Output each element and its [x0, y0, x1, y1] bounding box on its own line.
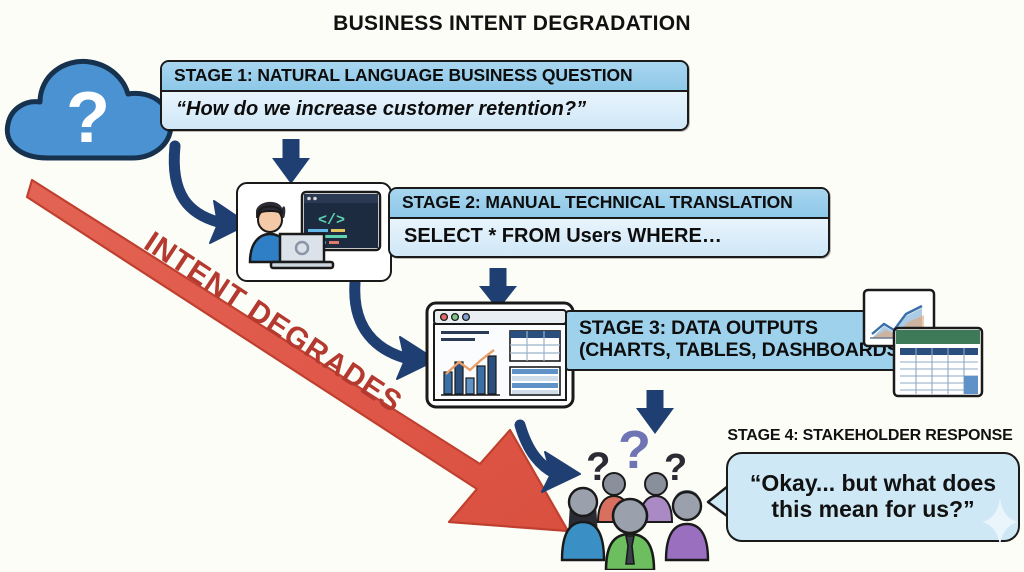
- stage-1-body: “How do we increase customer retention?”: [162, 92, 687, 129]
- stage-2-card[interactable]: STAGE 2: MANUAL TECHNICAL TRANSLATION SE…: [388, 187, 830, 258]
- stage-1-header: STAGE 1: NATURAL LANGUAGE BUSINESS QUEST…: [162, 62, 687, 92]
- stage-4-label: STAGE 4: STAKEHOLDER RESPONSE: [716, 427, 1024, 445]
- spreadsheet-icon: [892, 326, 1004, 404]
- stakeholder-speech-bubble[interactable]: “Okay... but what does this mean for us?…: [726, 452, 1020, 542]
- stage-3-line1: STAGE 3: DATA OUTPUTS: [579, 318, 897, 340]
- svg-text:?: ?: [66, 78, 110, 158]
- sparkle-icon: [980, 496, 1020, 548]
- question-cloud-icon: ?: [0, 46, 176, 166]
- svg-text:?: ?: [618, 420, 651, 480]
- developer-laptop-icon: </>: [236, 182, 392, 282]
- svg-text:</>: </>: [318, 212, 345, 229]
- bubble-line1: “Okay... but what does: [750, 471, 996, 497]
- bubble-line2: this mean for us?”: [750, 497, 996, 523]
- stage-3-card[interactable]: STAGE 3: DATA OUTPUTS (CHARTS, TABLES, D…: [565, 310, 909, 371]
- stage-2-body: SELECT * FROM Users WHERE…: [390, 219, 828, 256]
- stage-1-card[interactable]: STAGE 1: NATURAL LANGUAGE BUSINESS QUEST…: [160, 60, 689, 131]
- stage-2-header: STAGE 2: MANUAL TECHNICAL TRANSLATION: [390, 189, 828, 219]
- stage-3-line2: (CHARTS, TABLES, DASHBOARDS): [579, 340, 897, 362]
- arrow-stage1-to-stage2: [272, 139, 310, 184]
- dashboard-window-icon: [424, 300, 576, 410]
